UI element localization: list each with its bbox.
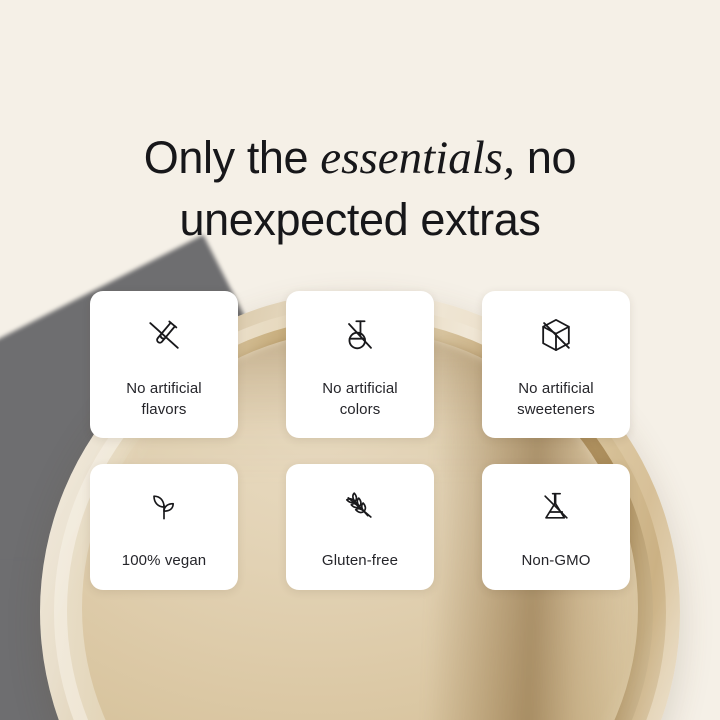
sprout-icon — [144, 487, 184, 532]
badge-label-line1: No artificial — [518, 380, 594, 397]
wheat-slash-icon — [340, 487, 380, 532]
badge-label-line2: sweeteners — [517, 401, 595, 418]
badge-label: Gluten-free — [322, 550, 398, 571]
erlenmeyer-flask-slash-icon — [536, 487, 576, 532]
badge-label-line2: flavors — [142, 401, 187, 418]
heading-emphasis: essentials, — [320, 132, 515, 184]
badge-card-no-artificial-colors: No artificial colors — [286, 291, 434, 438]
badge-label: 100% vegan — [122, 550, 206, 571]
promo-graphic: Only the essentials, no unexpected extra… — [0, 0, 720, 720]
badge-card-gluten-free: Gluten-free — [286, 464, 434, 590]
badge-label: No artificial sweeteners — [517, 378, 595, 421]
heading-part-1: Only the — [144, 132, 321, 183]
badge-grid: No artificial flavors No artificial colo… — [90, 291, 630, 590]
round-flask-slash-icon — [338, 313, 382, 362]
badge-label: No artificial flavors — [126, 378, 202, 421]
badge-card-vegan: 100% vegan — [90, 464, 238, 590]
test-tube-slash-icon — [142, 313, 186, 362]
badge-label-line1: No artificial — [126, 380, 202, 397]
badge-card-no-artificial-sweeteners: No artificial sweeteners — [482, 291, 630, 438]
badge-label-line2: colors — [340, 401, 381, 418]
sugar-cube-slash-icon — [534, 313, 578, 362]
badge-label: Non-GMO — [521, 550, 590, 571]
badge-card-non-gmo: Non-GMO — [482, 464, 630, 590]
badge-label-line1: No artificial — [322, 380, 398, 397]
page-title: Only the essentials, no unexpected extra… — [0, 127, 720, 249]
badge-label: No artificial colors — [322, 378, 398, 421]
badge-card-no-artificial-flavors: No artificial flavors — [90, 291, 238, 438]
